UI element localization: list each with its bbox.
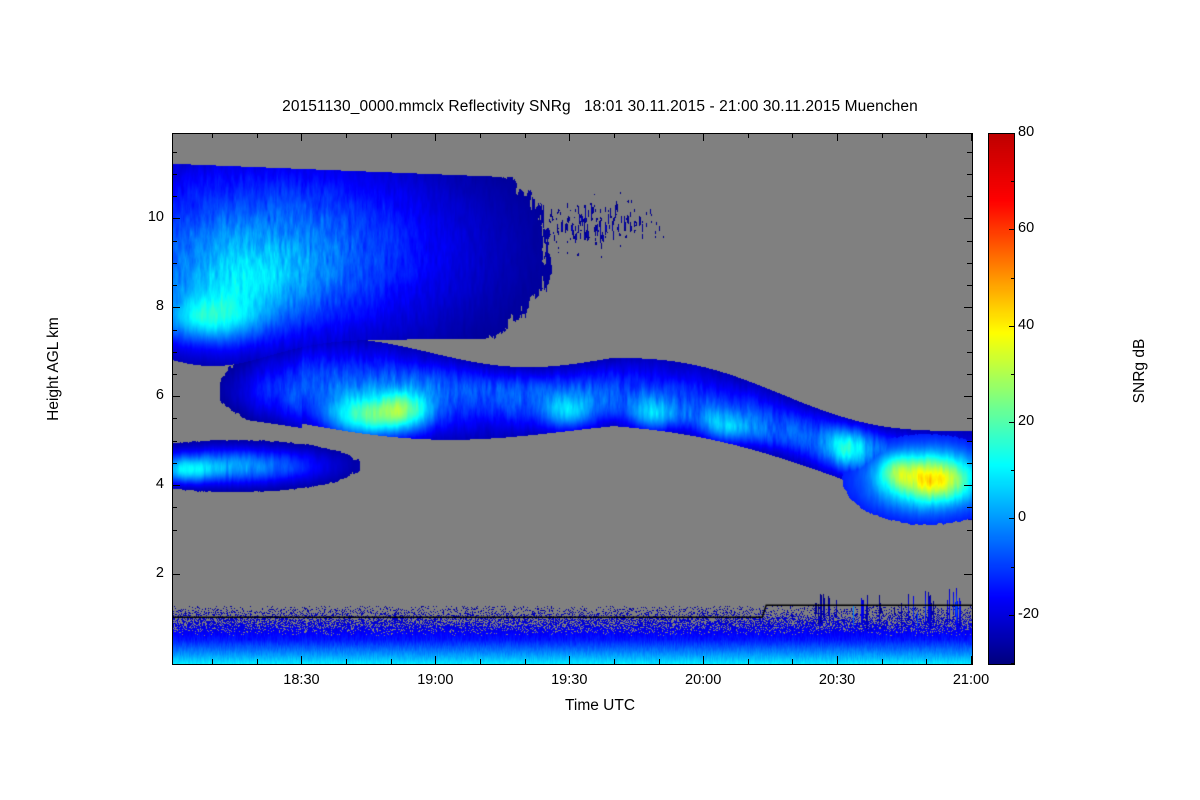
x-minor-tick	[257, 659, 258, 664]
colorbar-tick	[1009, 422, 1014, 423]
x-minor-tick	[525, 659, 526, 664]
y-major-tick-right	[964, 574, 972, 575]
y-tick-label: 2	[124, 565, 164, 581]
x-minor-tick	[926, 659, 927, 664]
x-minor-tick-top	[614, 133, 615, 138]
y-minor-tick	[172, 241, 177, 242]
x-minor-tick-top	[257, 133, 258, 138]
y-minor-tick	[172, 530, 177, 531]
x-minor-tick	[614, 659, 615, 664]
radar-reflectivity-figure: 20151130_0000.mmclx Reflectivity SNRg 18…	[0, 0, 1200, 800]
colorbar-tick-label: 80	[1018, 124, 1062, 140]
y-minor-tick-right	[967, 263, 972, 264]
x-minor-tick	[882, 659, 883, 664]
x-major-tick-top	[569, 133, 570, 141]
x-minor-tick	[748, 659, 749, 664]
y-minor-tick-right	[967, 152, 972, 153]
colorbar-tick	[1009, 615, 1014, 616]
colorbar-tick	[1009, 133, 1014, 134]
colorbar-label: SNRg dB	[1131, 271, 1149, 471]
x-minor-tick-top	[212, 133, 213, 138]
page-title: 20151130_0000.mmclx Reflectivity SNRg 18…	[0, 98, 1200, 116]
plot-area	[172, 133, 973, 665]
y-tick-label: 4	[124, 476, 164, 492]
y-minor-tick-right	[967, 418, 972, 419]
y-minor-tick	[172, 330, 177, 331]
y-minor-tick-right	[967, 174, 972, 175]
x-minor-tick-top	[391, 133, 392, 138]
colorbar-minor-tick	[1011, 567, 1014, 568]
colorbar-tick-label: 0	[1018, 509, 1062, 525]
x-major-tick	[301, 656, 302, 664]
x-tick-label: 20:30	[792, 672, 882, 688]
radar-heatmap	[173, 134, 972, 664]
y-minor-tick-right	[967, 463, 972, 464]
x-axis-label: Time UTC	[0, 697, 1200, 715]
colorbar-tick-label: 40	[1018, 317, 1062, 333]
x-major-tick-top	[837, 133, 838, 141]
x-minor-tick-top	[659, 133, 660, 138]
y-minor-tick	[172, 152, 177, 153]
x-minor-tick	[346, 659, 347, 664]
y-minor-tick-right	[967, 530, 972, 531]
y-tick-label: 8	[124, 298, 164, 314]
y-tick-label: 6	[124, 387, 164, 403]
y-minor-tick-right	[967, 352, 972, 353]
y-minor-tick	[172, 174, 177, 175]
y-minor-tick	[172, 285, 177, 286]
x-minor-tick-top	[525, 133, 526, 138]
x-minor-tick-top	[882, 133, 883, 138]
colorbar	[988, 133, 1015, 665]
colorbar-tick	[1009, 229, 1014, 230]
x-major-tick	[971, 656, 972, 664]
x-minor-tick	[212, 659, 213, 664]
x-minor-tick	[792, 659, 793, 664]
x-tick-label: 18:30	[256, 672, 346, 688]
y-minor-tick	[172, 463, 177, 464]
x-minor-tick	[391, 659, 392, 664]
x-major-tick-top	[301, 133, 302, 141]
x-minor-tick-top	[346, 133, 347, 138]
y-major-tick	[172, 485, 180, 486]
colorbar-minor-tick	[1011, 663, 1014, 664]
y-minor-tick-right	[967, 330, 972, 331]
x-tick-label: 19:30	[524, 672, 614, 688]
x-minor-tick-top	[792, 133, 793, 138]
colorbar-tick-label: 20	[1018, 413, 1062, 429]
colorbar-tick-label: 60	[1018, 220, 1062, 236]
colorbar-tick	[1009, 518, 1014, 519]
x-minor-tick-top	[926, 133, 927, 138]
y-minor-tick	[172, 441, 177, 442]
colorbar-gradient	[989, 134, 1014, 664]
colorbar-tick-label: -20	[1018, 606, 1062, 622]
y-minor-tick-right	[967, 285, 972, 286]
x-major-tick-top	[435, 133, 436, 141]
x-major-tick	[703, 656, 704, 664]
x-minor-tick-top	[748, 133, 749, 138]
y-minor-tick	[172, 352, 177, 353]
y-tick-label: 10	[124, 209, 164, 225]
y-major-tick-right	[964, 307, 972, 308]
y-minor-tick-right	[967, 507, 972, 508]
x-minor-tick	[480, 659, 481, 664]
x-tick-label: 20:00	[658, 672, 748, 688]
y-minor-tick-right	[967, 196, 972, 197]
colorbar-tick	[1009, 326, 1014, 327]
y-minor-tick	[172, 196, 177, 197]
y-major-tick	[172, 396, 180, 397]
x-major-tick-top	[703, 133, 704, 141]
x-major-tick-top	[971, 133, 972, 141]
x-minor-tick-top	[480, 133, 481, 138]
y-minor-tick	[172, 507, 177, 508]
x-tick-label: 19:00	[390, 672, 480, 688]
y-major-tick-right	[964, 396, 972, 397]
y-minor-tick	[172, 418, 177, 419]
x-major-tick	[837, 656, 838, 664]
y-minor-tick-right	[967, 241, 972, 242]
y-major-tick	[172, 574, 180, 575]
y-major-tick-right	[964, 485, 972, 486]
x-major-tick	[569, 656, 570, 664]
colorbar-minor-tick	[1011, 181, 1014, 182]
x-tick-label: 21:00	[926, 672, 1016, 688]
x-major-tick	[435, 656, 436, 664]
y-minor-tick	[172, 263, 177, 264]
y-minor-tick	[172, 374, 177, 375]
y-major-tick-right	[964, 218, 972, 219]
x-minor-tick	[659, 659, 660, 664]
y-axis-label: Height AGL km	[45, 269, 63, 469]
colorbar-minor-tick	[1011, 470, 1014, 471]
colorbar-minor-tick	[1011, 374, 1014, 375]
y-minor-tick-right	[967, 374, 972, 375]
y-major-tick	[172, 218, 180, 219]
y-minor-tick-right	[967, 441, 972, 442]
colorbar-minor-tick	[1011, 278, 1014, 279]
y-major-tick	[172, 307, 180, 308]
